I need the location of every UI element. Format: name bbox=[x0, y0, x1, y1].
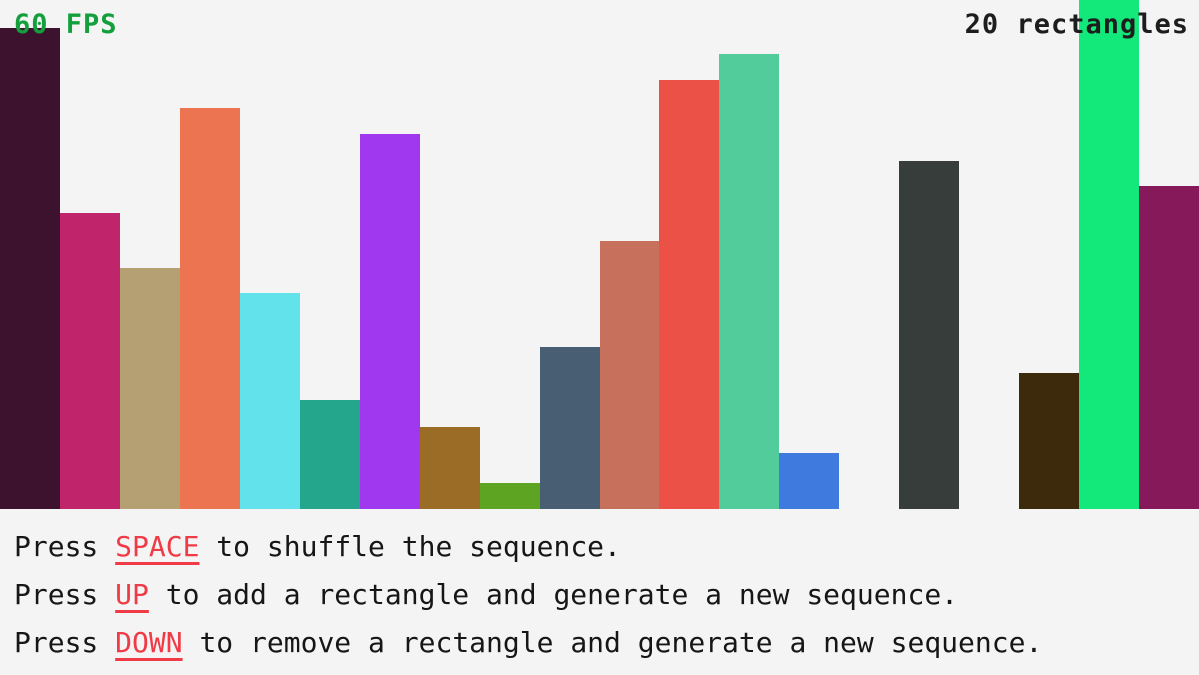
bar-8 bbox=[420, 427, 480, 509]
instructions-panel: Press SPACE to shuffle the sequence.Pres… bbox=[0, 509, 1199, 675]
bar-19 bbox=[1079, 0, 1139, 509]
bar-15 bbox=[839, 320, 899, 509]
instruction-prefix: Press bbox=[14, 530, 115, 563]
bar-chart-canvas[interactable] bbox=[0, 0, 1199, 509]
bar-4 bbox=[180, 108, 240, 509]
instruction-prefix: Press bbox=[14, 626, 115, 659]
bar-9 bbox=[480, 483, 540, 509]
bar-11 bbox=[600, 241, 659, 509]
instruction-line-2: Press UP to add a rectangle and generate… bbox=[14, 571, 1199, 619]
bar-20 bbox=[1139, 186, 1199, 509]
bar-18 bbox=[1019, 373, 1079, 509]
bar-5 bbox=[240, 293, 300, 509]
instruction-suffix: to shuffle the sequence. bbox=[199, 530, 620, 563]
instruction-line-1: Press SPACE to shuffle the sequence. bbox=[14, 523, 1199, 571]
bar-10 bbox=[540, 347, 600, 509]
bar-3 bbox=[120, 268, 180, 509]
fps-counter: 60 FPS bbox=[14, 11, 118, 38]
instruction-suffix: to add a rectangle and generate a new se… bbox=[149, 578, 958, 611]
instruction-line-3: Press DOWN to remove a rectangle and gen… bbox=[14, 619, 1199, 667]
bar-6 bbox=[300, 400, 360, 509]
instruction-suffix: to remove a rectangle and generate a new… bbox=[183, 626, 1043, 659]
key-down[interactable]: DOWN bbox=[115, 626, 182, 659]
bar-12 bbox=[659, 80, 719, 509]
rectangle-count-label: 20 rectangles bbox=[965, 11, 1189, 38]
bar-16 bbox=[899, 161, 959, 509]
bar-2 bbox=[60, 213, 120, 509]
bar-7 bbox=[360, 134, 420, 509]
key-up[interactable]: UP bbox=[115, 578, 149, 611]
bar-1 bbox=[0, 28, 60, 509]
rectangle-visualizer-app: 60 FPS 20 rectangles Press SPACE to shuf… bbox=[0, 0, 1199, 675]
bar-13 bbox=[719, 54, 779, 509]
bar-14 bbox=[779, 453, 839, 509]
key-space[interactable]: SPACE bbox=[115, 530, 199, 563]
instruction-prefix: Press bbox=[14, 578, 115, 611]
